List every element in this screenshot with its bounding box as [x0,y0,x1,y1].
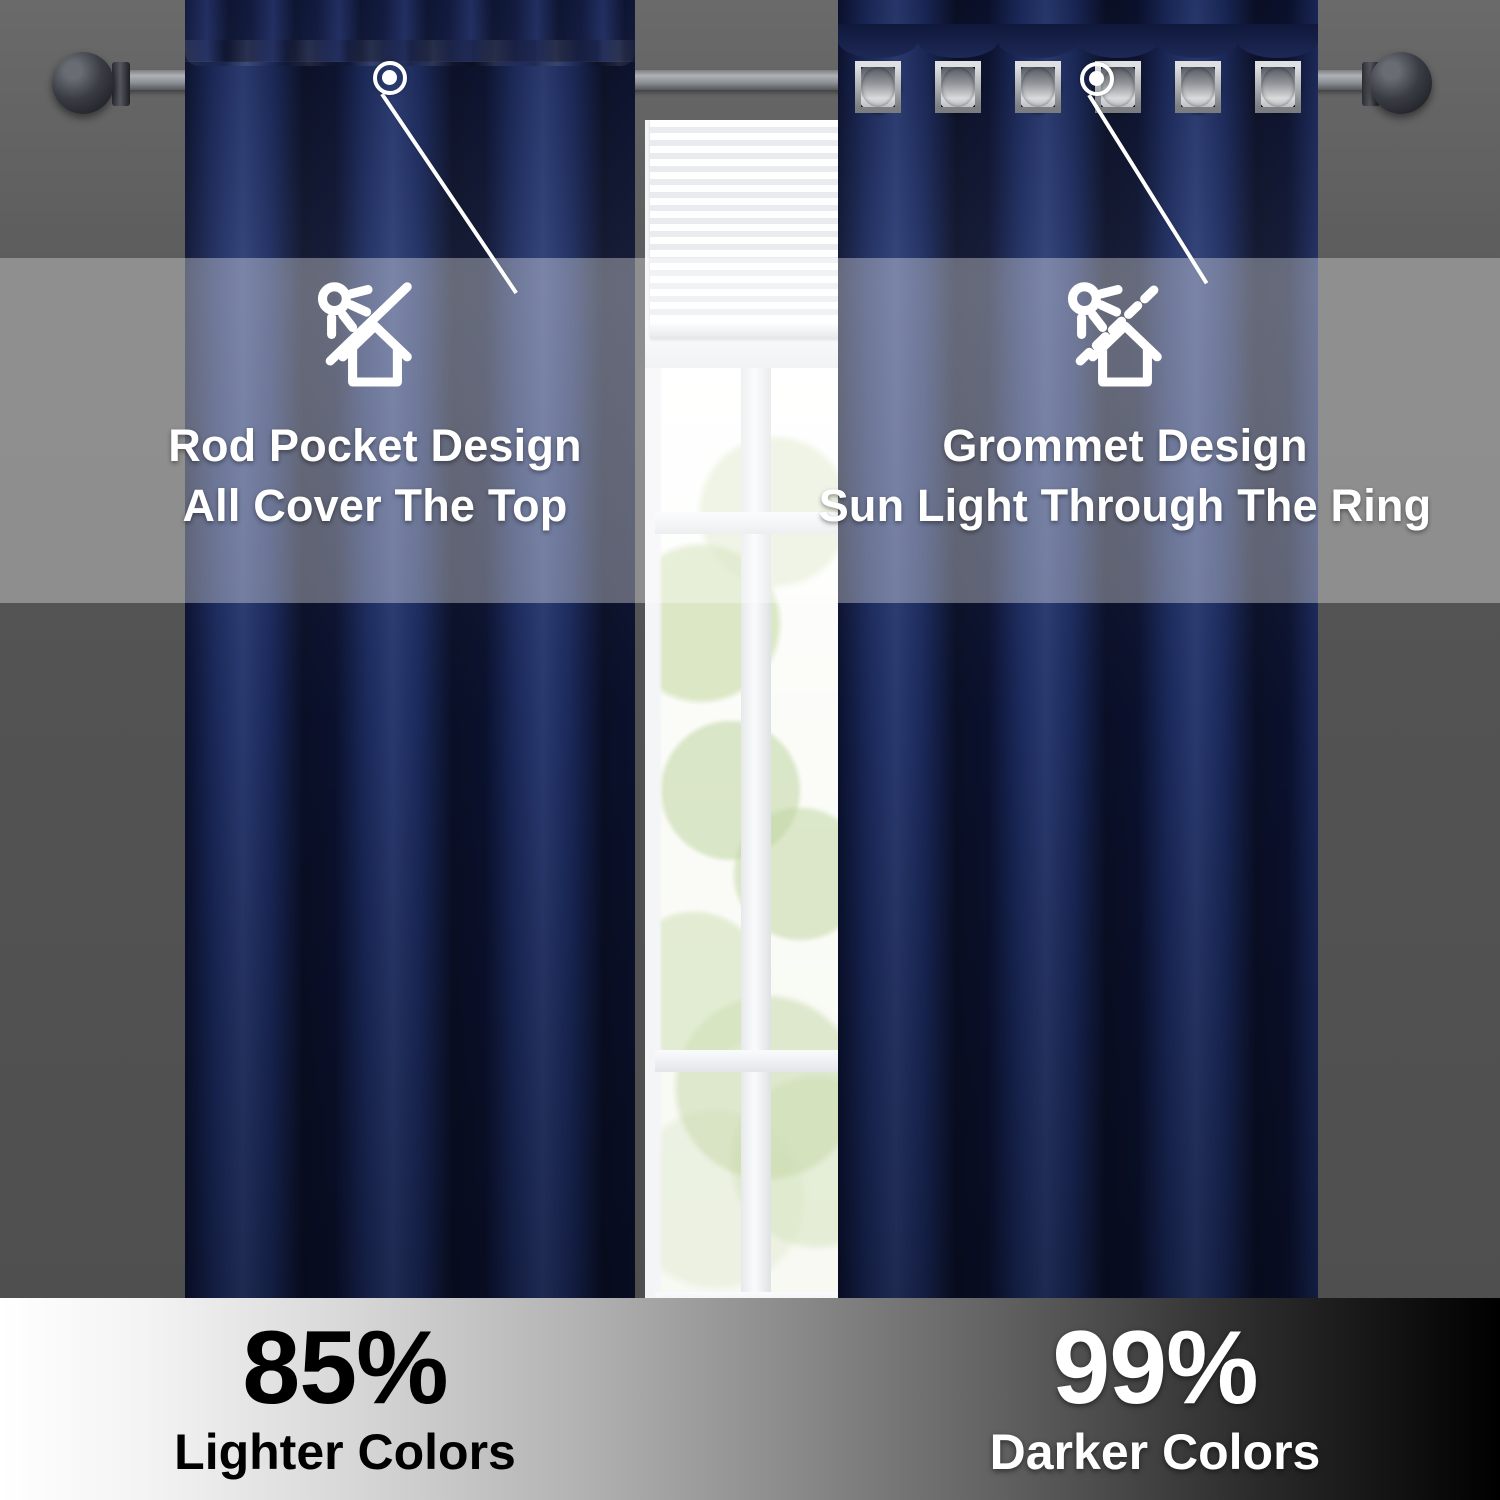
feature-text-block: Rod Pocket Design All Cover The Top [0,416,750,536]
product-infographic: Rod Pocket Design All Cover The Top Gro [0,0,1500,1500]
window-mullion-horizontal [655,1050,850,1072]
ball-finial-left [52,52,114,114]
feature-overlay-band: Rod Pocket Design All Cover The Top Gro [0,258,1500,603]
rating-lighter-colors: 85% Lighter Colors [35,1298,655,1500]
rating-percent: 99% [1052,1318,1257,1420]
feature-line-2: All Cover The Top [0,476,750,536]
feature-rod-pocket: Rod Pocket Design All Cover The Top [0,258,750,603]
feature-line-2: Sun Light Through The Ring [750,476,1500,536]
feature-grommet: Grommet Design Sun Light Through The Rin… [750,258,1500,603]
ball-finial-right [1370,52,1432,114]
sun-through-house-icon [1055,270,1195,410]
feature-line-1: Rod Pocket Design [0,416,750,476]
rod-collar-left [112,62,130,106]
feature-line-1: Grommet Design [750,416,1500,476]
feature-text-block: Grommet Design Sun Light Through The Rin… [750,416,1500,536]
rating-label: Darker Colors [990,1425,1321,1480]
sun-blocked-house-icon [305,270,445,410]
curtain-panel-grommet [838,0,1318,1298]
rating-darker-colors: 99% Darker Colors [845,1298,1465,1500]
curtain-shading [185,0,635,1298]
curtain-shading [838,0,1318,1298]
blackout-rating-banner: 85% Lighter Colors 99% Darker Colors [0,1298,1500,1500]
curtain-panel-rod-pocket [185,0,635,1298]
rating-percent: 85% [242,1318,447,1420]
rating-label: Lighter Colors [174,1425,516,1480]
